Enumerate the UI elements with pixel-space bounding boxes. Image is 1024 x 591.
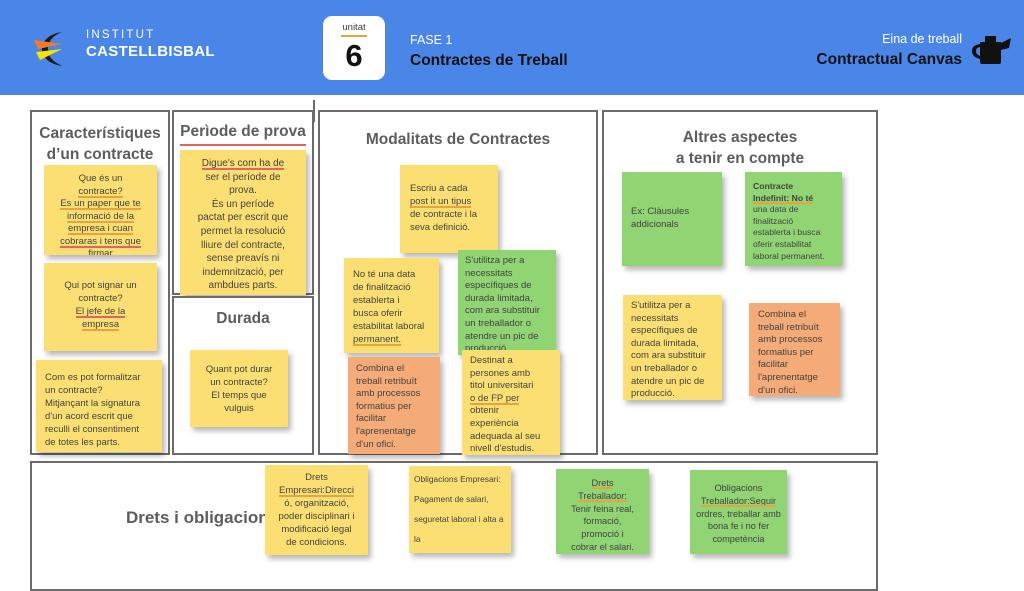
- note-sutilitza-necessitats-especifiques-altres[interactable]: S'utilitza per a necessitats específique…: [623, 295, 722, 400]
- note-line: facilitar: [758, 359, 833, 372]
- note-line: Combina el: [356, 363, 433, 376]
- note-line: específiques de: [631, 325, 715, 338]
- note-line: específiques de: [465, 280, 549, 293]
- note-line: Seguretat Social.: [414, 549, 504, 553]
- note-line: Destinat a: [470, 355, 553, 368]
- note-line: Tenir feina real,: [563, 503, 642, 516]
- unit-number: 6: [345, 40, 362, 71]
- note-line: Pagament de salari,: [414, 489, 504, 509]
- note-line: prova.: [187, 184, 299, 198]
- contractual-canvas-page: INSTITUT CASTELLBISBAL unitat 6 FASE 1 C…: [0, 0, 1024, 576]
- note-line: lliure del contracte,: [187, 239, 299, 253]
- note-line: modificació legal: [272, 523, 361, 536]
- panel-periode-title-text: Perìode de prova: [180, 122, 306, 143]
- note-combina-treball-retribuit-modalitats[interactable]: Combina el treball retribuït amb process…: [348, 357, 440, 454]
- note-line: cobraras i tens que: [51, 236, 150, 249]
- note-line: amb processos: [356, 388, 433, 401]
- note-line: de totes les parts.: [45, 436, 155, 449]
- institut-logo-mark: [32, 30, 84, 68]
- note-line: S'utilitza per a: [465, 255, 549, 268]
- panel-altres-title: Altres aspectes a tenir en compte: [604, 128, 876, 170]
- note-line-text: informació de la: [67, 211, 134, 222]
- note-line: titol universitari: [470, 380, 553, 393]
- note-que-es-un-contracte[interactable]: Que és un contracte? Es un paper que te …: [44, 165, 157, 255]
- note-line-text: Es un paper que te: [60, 198, 140, 209]
- note-line-text: Treballador:: [578, 491, 627, 501]
- note-line: Drets: [563, 477, 642, 490]
- note-line: Es un paper que te: [51, 198, 150, 211]
- unit-badge: unitat 6: [323, 16, 385, 80]
- note-line: atendre un pic de: [631, 376, 715, 389]
- note-drets-empresari[interactable]: Drets Empresari:Direcci ó, organització,…: [265, 465, 368, 555]
- note-line-text: o de FP per: [470, 393, 519, 404]
- note-qui-pot-signar[interactable]: Qui pot signar un contracte? El jefe de …: [44, 263, 157, 351]
- tool-title-block: Eina de treball Contractual Canvas: [816, 32, 962, 69]
- note-ex-clausules-addicionals[interactable]: Ex: Clàusules addicionals: [622, 172, 722, 266]
- note-line: durada limitada,: [465, 293, 549, 306]
- note-line: Treballador:: [563, 490, 642, 503]
- note-destinat-a-persones-titol[interactable]: Destinat a persones amb titol universita…: [462, 350, 560, 455]
- note-line-text: post it un tipus: [410, 196, 471, 207]
- note-line: promoció i: [563, 528, 642, 541]
- note-line: un contracte?: [197, 376, 281, 389]
- note-obligacions-empresari[interactable]: Obligacions Empresari: Pagament de salar…: [409, 466, 511, 553]
- panel-durada-title: Durada: [174, 309, 312, 330]
- note-line: Ex: Clàusules: [631, 205, 715, 218]
- phase-label: FASE 1: [410, 33, 568, 48]
- note-line-text: permanent.: [353, 334, 401, 345]
- institut-castellbisbal-logo: INSTITUT CASTELLBISBAL: [32, 28, 202, 70]
- note-line: establerta i: [353, 294, 432, 307]
- note-line: cobrar el salari.: [563, 541, 642, 554]
- note-escriu-a-cada-postit[interactable]: Escriu a cada post it un tipus de contra…: [400, 165, 498, 253]
- page-header: INSTITUT CASTELLBISBAL unitat 6 FASE 1 C…: [0, 0, 1024, 95]
- note-line: Com es pot formalitzar: [45, 371, 155, 384]
- note-line: ser el període de: [187, 171, 299, 185]
- note-obligacions-treballador[interactable]: Obligacions Treballador:Seguir ordres, t…: [690, 470, 787, 554]
- logo-line-1: INSTITUT: [86, 30, 215, 42]
- note-line: S'utilitza per a: [631, 300, 715, 313]
- note-line: laboral permanent.: [753, 251, 835, 263]
- note-line: reculli el consentiment: [45, 423, 155, 436]
- unit-divider: [341, 35, 367, 38]
- note-no-te-data-finalitzacio[interactable]: No té una data de finalització establert…: [344, 258, 439, 353]
- note-line: indemnització, per: [187, 266, 299, 280]
- panel-tick-divider: [313, 100, 315, 122]
- logo-line-2: CASTELLBISBAL: [86, 44, 215, 59]
- note-line: formació,: [563, 515, 642, 528]
- note-line: oferir estabilitat: [753, 239, 835, 251]
- note-line: pactat per escrit que: [187, 211, 299, 225]
- note-combina-treball-retribuit-altres[interactable]: Combina el treball retribuït amb process…: [749, 303, 840, 396]
- note-line-text: Digue's com ha de: [202, 158, 285, 169]
- note-line: d'un acord escrit que: [45, 410, 155, 423]
- note-line: facilitar: [356, 413, 433, 426]
- note-line: d'un ofici.: [758, 385, 833, 396]
- note-line: contracte?: [51, 292, 150, 305]
- note-line: informació de la: [51, 211, 150, 224]
- note-line: un treballador o: [465, 318, 549, 331]
- note-line: permanent.: [353, 333, 432, 346]
- note-line: Mitjançant la signatura: [45, 397, 155, 410]
- note-contracte-indefinit[interactable]: Contracte Indefinit: No té una data de f…: [745, 172, 842, 266]
- note-line: firmar: [51, 248, 150, 255]
- note-line: de condicions.: [272, 536, 361, 549]
- panel-title-line-2: d’un contracte: [32, 145, 168, 166]
- note-line: permet la resolució: [187, 225, 299, 239]
- note-line: producció.: [631, 388, 715, 400]
- note-line: d'un ofici.: [356, 439, 433, 452]
- note-line: treball retribuït: [356, 376, 433, 389]
- note-line: Digue's com ha de: [187, 157, 299, 171]
- note-line: treball retribuït: [758, 322, 833, 335]
- note-line: seguretat laboral i alta a la: [414, 509, 504, 549]
- note-line: No té una data: [353, 268, 432, 281]
- panel-periode-title: Perìode de prova: [174, 122, 312, 143]
- panel-title-line-2: a tenir en compte: [604, 149, 876, 170]
- note-line: Quant pot durar: [197, 363, 281, 376]
- note-line: poder disciplinari i: [272, 510, 361, 523]
- watering-can-icon: [968, 30, 1012, 68]
- note-line-text: contracte?: [78, 186, 122, 197]
- note-line: necessitats: [631, 313, 715, 326]
- note-line: El temps que: [197, 389, 281, 402]
- note-line: ordres, treballar amb: [693, 508, 784, 521]
- panel-altres-aspectes: Altres aspectes a tenir en compte: [602, 110, 878, 455]
- note-quant-pot-durar[interactable]: Quant pot durar un contracte? El temps q…: [190, 350, 288, 427]
- note-line: bona fe i no fer: [693, 520, 784, 533]
- note-line: empresa: [51, 318, 150, 331]
- note-line: l'aprenentatge: [356, 426, 433, 439]
- note-line: necessitats: [465, 268, 549, 281]
- note-line: busca oferir: [353, 307, 432, 320]
- phase-title-block: FASE 1 Contractes de Treball: [410, 33, 568, 70]
- note-drets-treballador[interactable]: Drets Treballador: Tenir feina real, for…: [556, 469, 649, 554]
- note-line: de finalització: [353, 281, 432, 294]
- note-line: de contracte i la: [410, 208, 491, 221]
- note-line: És un període: [187, 198, 299, 212]
- note-line: sense preavís ni: [187, 252, 299, 266]
- note-line: Escriu a cada: [410, 182, 491, 195]
- note-line: un treballador o: [631, 363, 715, 376]
- note-digues-periode-prova[interactable]: Digue's com ha de ser el període de prov…: [180, 150, 306, 295]
- note-line: un contracte?: [45, 384, 155, 397]
- note-line-text: empresa: [82, 319, 119, 330]
- note-line-text: Empresari:Direcci: [279, 485, 354, 496]
- note-line: Treballador:Seguir: [693, 495, 784, 508]
- note-line-text: Drets: [592, 478, 614, 488]
- note-line: addicionals: [631, 218, 715, 231]
- note-line: estabilitat laboral: [353, 320, 432, 333]
- note-line: una data de: [753, 204, 835, 216]
- note-line: experiència: [470, 418, 553, 431]
- note-line: amb processos: [758, 334, 833, 347]
- note-line: com ara substituir: [631, 350, 715, 363]
- tool-title: Contractual Canvas: [816, 50, 962, 69]
- note-line: obtenir: [470, 405, 553, 418]
- note-line: finalització: [753, 216, 835, 228]
- note-line-text: Indefinit: No té: [753, 193, 813, 203]
- note-line-text: El jefe de la: [76, 306, 126, 317]
- note-line: formatius per: [758, 347, 833, 360]
- note-line: Combina el: [758, 309, 833, 322]
- tool-label: Eina de treball: [816, 32, 962, 47]
- note-line: atendre un pic de: [465, 331, 549, 344]
- note-line: vulguis: [197, 402, 281, 415]
- note-com-formalitzar[interactable]: Com es pot formalitzar un contracte? Mit…: [36, 360, 162, 452]
- note-line: Contracte: [753, 181, 835, 193]
- note-sutilitza-necessitats-especifiques-modalitats[interactable]: S'utilitza per a necessitats específique…: [458, 250, 556, 355]
- panel-caracteristiques-title: Característiques d’un contracte: [32, 124, 168, 166]
- note-line: El jefe de la: [51, 305, 150, 318]
- note-line: Obligacions Empresari:: [414, 469, 504, 489]
- panel-title-line-1: Característiques: [32, 124, 168, 145]
- note-line: adequada al seu: [470, 431, 553, 444]
- unit-label: unitat: [342, 23, 365, 33]
- note-line: seva definició.: [410, 221, 491, 234]
- note-line: establerta i busca: [753, 227, 835, 239]
- phase-title: Contractes de Treball: [410, 51, 568, 70]
- note-line: Empresari:Direcci: [272, 484, 361, 497]
- note-line-text: Treballador:Seguir: [701, 496, 776, 506]
- note-line: nivell d'estudis.: [470, 443, 553, 455]
- note-line: Drets: [272, 471, 361, 484]
- note-line-text: cobraras i tens que: [60, 236, 141, 247]
- note-line: persones amb: [470, 368, 553, 381]
- note-line: formatius per: [356, 401, 433, 414]
- note-line: o de FP per: [470, 393, 553, 406]
- note-line: durada limitada,: [631, 338, 715, 351]
- note-line: competència: [693, 533, 784, 546]
- note-line: Obligacions: [693, 482, 784, 495]
- note-line: com ara substituir: [465, 305, 549, 318]
- note-line: l'aprenentatge: [758, 372, 833, 385]
- note-line: Indefinit: No té: [753, 193, 835, 205]
- note-line: empresa i cuan: [51, 223, 150, 236]
- note-line-text: empresa i cuan: [68, 223, 133, 234]
- note-line: Qui pot signar un: [51, 279, 150, 292]
- institut-logo-text: INSTITUT CASTELLBISBAL: [86, 30, 215, 59]
- note-line: ambdues parts.: [187, 279, 299, 293]
- panel-modalitats-title: Modalitats de Contractes: [320, 130, 596, 151]
- note-line: Que és un: [51, 173, 150, 186]
- note-line: contracte?: [51, 186, 150, 199]
- note-line: post it un tipus: [410, 195, 491, 208]
- note-line: ó, organització,: [272, 497, 361, 510]
- panel-title-line-1: Altres aspectes: [604, 128, 876, 149]
